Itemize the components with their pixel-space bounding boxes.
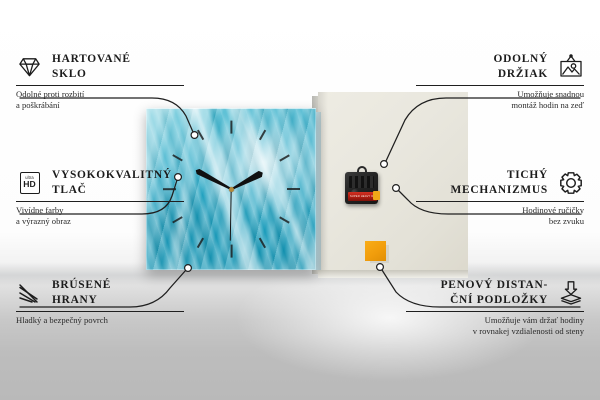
callout-header: ODOLNÝ DRŽIAK [416,52,584,81]
callout-header: TICHÝ MECHANIZMUS [416,168,584,197]
clock-center-cap [229,187,234,192]
clock-tick-4 [279,216,289,223]
callout-description: Hladký a bezpečný povrch [16,315,184,326]
clock-hour-hand [229,169,264,192]
callout-polished-edges: BRÚSENÉ HRANY Hladký a bezpečný povrch [16,278,184,326]
callout-divider [16,85,184,86]
callout-title: ODOLNÝ DRŽIAK [494,52,549,81]
callout-tempered-glass: HARTOVANÉ SKLO Odolné proti rozbití a po… [16,52,184,112]
wall-panel-base [318,270,468,278]
diamond-gem-icon [16,53,43,80]
callout-divider [16,201,184,202]
callout-title: BRÚSENÉ HRANY [52,278,111,307]
callout-description: Vivídne farby a výrazný obraz [16,205,184,228]
mechanism-grill [349,176,374,188]
callout-description: Odolné proti rozbití a poškrábání [16,89,184,112]
callout-foam-spacers: PENOVÝ DISTAN- ČNÍ PODLOŽKY Umožňuje vám… [406,278,584,338]
callout-title: PENOVÝ DISTAN- ČNÍ PODLOŽKY [441,278,548,307]
clock-glass-thickness [316,112,321,270]
callout-divider [416,201,584,202]
callout-title: HARTOVANÉ SKLO [52,52,131,81]
clock-tick-1 [258,130,265,140]
battery-terminal [373,191,380,200]
callout-header: HARTOVANÉ SKLO [16,52,184,81]
callout-title: VYSOKOKVALITNÝ TLAČ [52,168,172,197]
clock-second-hand [229,189,231,241]
arrow-down-onto-pads-icon [557,279,584,306]
gear-icon [557,169,584,196]
clock-tick-12 [230,120,232,133]
callout-silent-mechanism: TICHÝ MECHANIZMUS Hodinové ručičky bez z… [416,168,584,228]
callout-header: ultra HD VYSOKOKVALITNÝ TLAČ [16,168,184,197]
clock-tick-10 [172,154,182,161]
hd-badge-main-text: HD [23,180,35,189]
clock-tick-11 [196,130,203,140]
callout-description: Umožňuje vám držať hodiny v rovnakej vzd… [406,315,584,338]
callout-description: Hodinové ručičky bez zvuku [416,205,584,228]
hanging-picture-frame-icon [557,53,584,80]
clock-tick-6 [230,244,232,257]
ultra-hd-badge-icon: ultra HD [16,169,43,196]
callout-title: TICHÝ MECHANIZMUS [451,168,548,197]
diagonal-lines-polished-edge-icon [16,279,43,306]
callout-header: PENOVÝ DISTAN- ČNÍ PODLOŽKY [406,278,584,307]
callout-description: Umožňuje snadnou montáž hodin na zeď [416,89,584,112]
clock-tick-7 [196,237,203,247]
callout-durable-holder: ODOLNÝ DRŽIAK Umožňuje snadnou montáž h [416,52,584,112]
clock-tick-5 [258,237,265,247]
foam-spacer-pad [365,241,386,261]
clock-minute-hand [194,168,232,192]
clock-tick-3 [287,188,300,190]
callout-divider [416,85,584,86]
infographic-canvas: SUPER HEAVY DUTY [0,0,600,400]
callout-divider [16,311,184,312]
callout-high-quality-print: ultra HD VYSOKOKVALITNÝ TLAČ Vivídne far… [16,168,184,228]
clock-tick-2 [279,154,289,161]
callout-divider [406,311,584,312]
callout-header: BRÚSENÉ HRANY [16,278,184,307]
